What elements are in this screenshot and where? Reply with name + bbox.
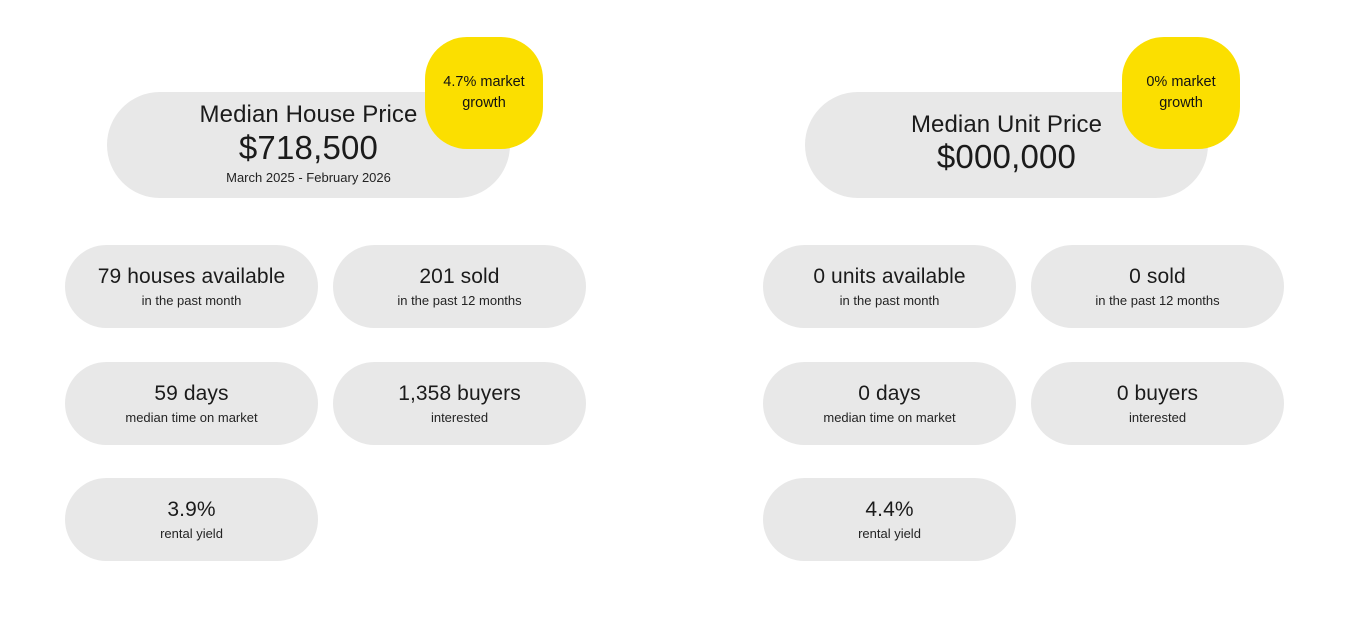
unit-sold-label: in the past 12 months bbox=[1095, 293, 1219, 309]
unit-days-on-market-label: median time on market bbox=[823, 410, 955, 426]
house-panel: Median House Price $718,500 March 2025 -… bbox=[42, 0, 642, 630]
house-available-card[interactable]: 79 houses available in the past month bbox=[65, 245, 318, 328]
median-unit-price-title: Median Unit Price bbox=[911, 112, 1102, 137]
unit-buyers-card[interactable]: 0 buyers interested bbox=[1031, 362, 1284, 445]
house-growth-line-2: growth bbox=[462, 95, 506, 111]
unit-growth-line-2: growth bbox=[1159, 95, 1203, 111]
unit-growth-line-1: 0% market bbox=[1146, 74, 1215, 90]
house-sold-label: in the past 12 months bbox=[397, 293, 521, 309]
house-sold-card[interactable]: 201 sold in the past 12 months bbox=[333, 245, 586, 328]
house-available-value: 79 houses available bbox=[98, 265, 286, 290]
house-market-growth-badge[interactable]: 4.7% market growth bbox=[425, 37, 543, 149]
house-days-on-market-label: median time on market bbox=[125, 410, 257, 426]
house-days-on-market-value: 59 days bbox=[154, 382, 228, 407]
unit-available-card[interactable]: 0 units available in the past month bbox=[763, 245, 1016, 328]
house-rental-yield-value: 3.9% bbox=[167, 498, 215, 523]
house-days-on-market-card[interactable]: 59 days median time on market bbox=[65, 362, 318, 445]
house-available-label: in the past month bbox=[142, 293, 242, 309]
unit-days-on-market-value: 0 days bbox=[858, 382, 920, 407]
unit-days-on-market-card[interactable]: 0 days median time on market bbox=[763, 362, 1016, 445]
unit-buyers-label: interested bbox=[1129, 410, 1186, 426]
house-growth-line-1: 4.7% market bbox=[443, 74, 524, 90]
unit-market-growth-badge[interactable]: 0% market growth bbox=[1122, 37, 1240, 149]
unit-rental-yield-card[interactable]: 4.4% rental yield bbox=[763, 478, 1016, 561]
unit-available-label: in the past month bbox=[840, 293, 940, 309]
unit-buyers-value: 0 buyers bbox=[1117, 382, 1198, 407]
median-house-price-period: March 2025 - February 2026 bbox=[226, 170, 391, 186]
house-buyers-value: 1,358 buyers bbox=[398, 382, 521, 407]
house-buyers-card[interactable]: 1,358 buyers interested bbox=[333, 362, 586, 445]
house-sold-value: 201 sold bbox=[419, 265, 499, 290]
unit-rental-yield-label: rental yield bbox=[858, 526, 921, 542]
unit-rental-yield-value: 4.4% bbox=[865, 498, 913, 523]
market-stats-board: Median House Price $718,500 March 2025 -… bbox=[0, 0, 1350, 630]
unit-sold-card[interactable]: 0 sold in the past 12 months bbox=[1031, 245, 1284, 328]
unit-panel: Median Unit Price $000,000 0% market gro… bbox=[740, 0, 1340, 630]
median-house-price-value: $718,500 bbox=[239, 128, 378, 168]
house-rental-yield-label: rental yield bbox=[160, 526, 223, 542]
house-rental-yield-card[interactable]: 3.9% rental yield bbox=[65, 478, 318, 561]
unit-sold-value: 0 sold bbox=[1129, 265, 1186, 290]
house-buyers-label: interested bbox=[431, 410, 488, 426]
median-house-price-title: Median House Price bbox=[200, 102, 418, 127]
median-unit-price-value: $000,000 bbox=[937, 137, 1076, 177]
unit-available-value: 0 units available bbox=[813, 265, 965, 290]
